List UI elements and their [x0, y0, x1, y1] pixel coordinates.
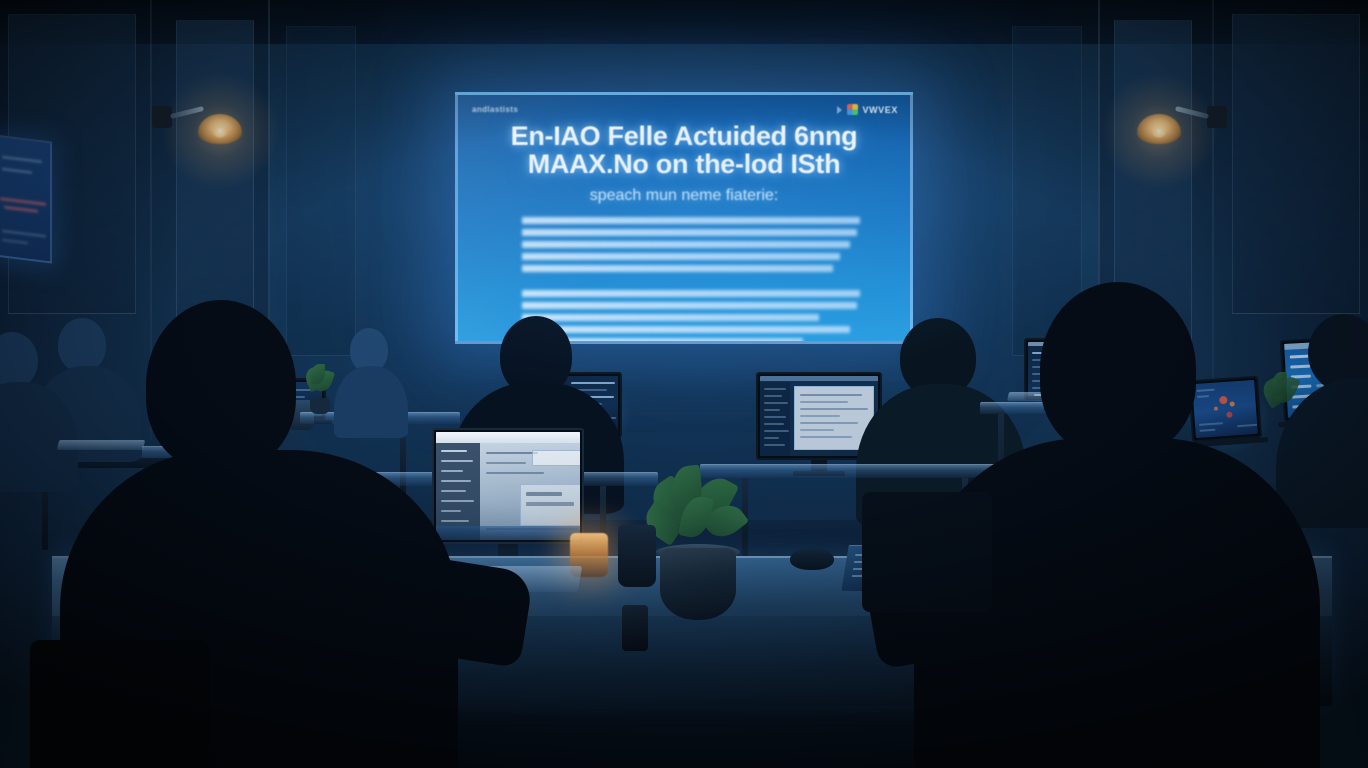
wall-sconce-right	[1182, 112, 1183, 113]
wall-panel	[1232, 14, 1360, 314]
smartphone[interactable]	[622, 605, 648, 651]
wall-monitor-left[interactable]: wall-mounted-dashboard-monitor	[0, 134, 52, 263]
plant-pot	[660, 548, 736, 620]
slide-brand-label: andlastists	[472, 105, 518, 114]
lamp-mount	[152, 106, 172, 128]
lamp-mount	[1207, 106, 1227, 128]
chair-back-mid	[862, 492, 992, 612]
slide-paragraph-1: blurred body copy line block, five lines	[522, 217, 860, 272]
lamp-bulb-icon	[1151, 124, 1167, 138]
office-scene: wall-mounted-dashboard-monitor andlastis…	[0, 0, 1368, 768]
slide-title-line-1: En-IAO Felle Actuided 6nng	[472, 123, 896, 151]
play-triangle-icon	[837, 106, 842, 114]
lamp-bulb-icon	[212, 124, 228, 138]
slide-logo: VWVEX	[837, 104, 898, 115]
presentation-screen-surface[interactable]: andlastists VWVEX En-IAO Felle Actuided …	[455, 92, 913, 344]
slide-title-line-2: MAAX.No on the-lod ISth	[472, 151, 896, 179]
person-back-left-edge	[0, 332, 68, 482]
chair-back-left	[30, 640, 210, 768]
presentation-screen[interactable]: andlastists VWVEX En-IAO Felle Actuided …	[455, 92, 913, 344]
slide-title: En-IAO Felle Actuided 6nng MAAX.No on th…	[458, 123, 910, 179]
computer-mouse[interactable]	[790, 548, 834, 570]
wall-sconce-left	[196, 112, 197, 113]
slide-logo-text: VWVEX	[862, 105, 898, 115]
slide-subtitle: speach mun neme fiaterie:	[458, 187, 910, 205]
person-far-right	[1286, 314, 1368, 514]
laptop-foreground-center[interactable]	[432, 428, 584, 544]
potted-plant	[648, 470, 748, 620]
brand-mark-icon	[847, 104, 858, 115]
dark-tumbler-cup	[618, 525, 656, 587]
